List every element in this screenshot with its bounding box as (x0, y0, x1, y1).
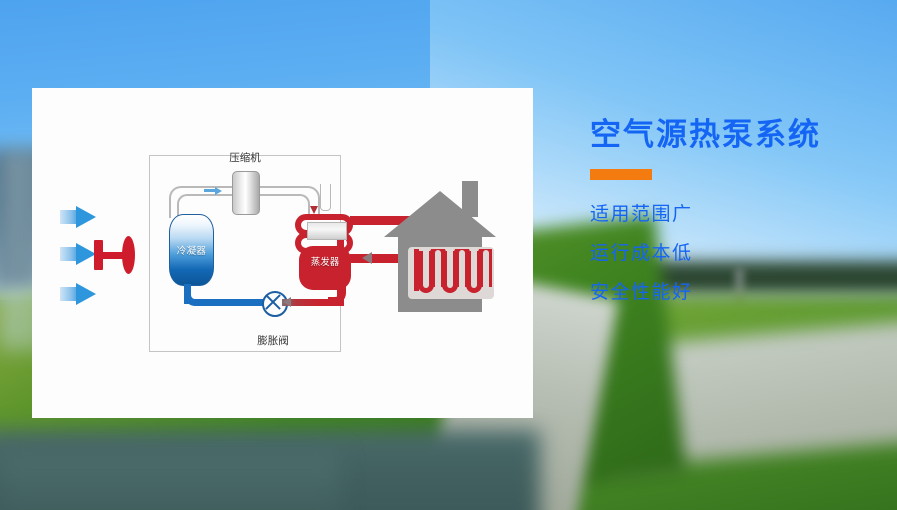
return-pipe-arrow-icon (362, 252, 372, 264)
compressor-body (232, 171, 260, 215)
suction-arrow-icon (215, 187, 222, 195)
fan-blade (122, 236, 135, 274)
air-arrow-head (76, 206, 96, 228)
evaporator-label: 蒸发器 (293, 254, 357, 268)
evaporator-body (293, 206, 357, 288)
foreground-shadow-2 (0, 452, 340, 510)
air-arrow-1 (60, 206, 96, 228)
liquid-line-horizontal (198, 299, 272, 306)
floor-coil-n-3 (478, 249, 492, 287)
house-roof (384, 191, 496, 237)
air-arrow-head (76, 283, 96, 305)
air-arrow-2 (60, 243, 96, 265)
feature-list: 适用范围广 运行成本低 安全性能好 (590, 203, 890, 303)
air-arrow-3 (60, 283, 96, 305)
list-item: 运行成本低 (590, 242, 890, 265)
air-arrow-head (76, 243, 96, 265)
fan-icon (94, 236, 138, 274)
list-item: 适用范围广 (590, 203, 890, 226)
expansion-valve-label: 膨胀阀 (218, 333, 328, 348)
house-icon (384, 181, 508, 312)
evaporator-plate (307, 222, 347, 240)
compressor-label: 压缩机 (200, 150, 290, 165)
diagram-card: 压缩机 冷凝器 膨胀阀 (32, 88, 533, 418)
page-title: 空气源热泵系统 (590, 118, 890, 152)
slide-stage: 压缩机 冷凝器 膨胀阀 (0, 0, 897, 510)
condenser-label: 冷凝器 (169, 243, 214, 257)
floor-heating-coil (412, 249, 492, 297)
accent-underline (590, 169, 652, 180)
return-flow-arrow-icon (283, 297, 291, 307)
heat-pump-diagram: 压缩机 冷凝器 膨胀阀 (32, 88, 533, 418)
list-item: 安全性能好 (590, 281, 890, 304)
headline-block: 空气源热泵系统 适用范围广 运行成本低 安全性能好 (590, 118, 890, 319)
